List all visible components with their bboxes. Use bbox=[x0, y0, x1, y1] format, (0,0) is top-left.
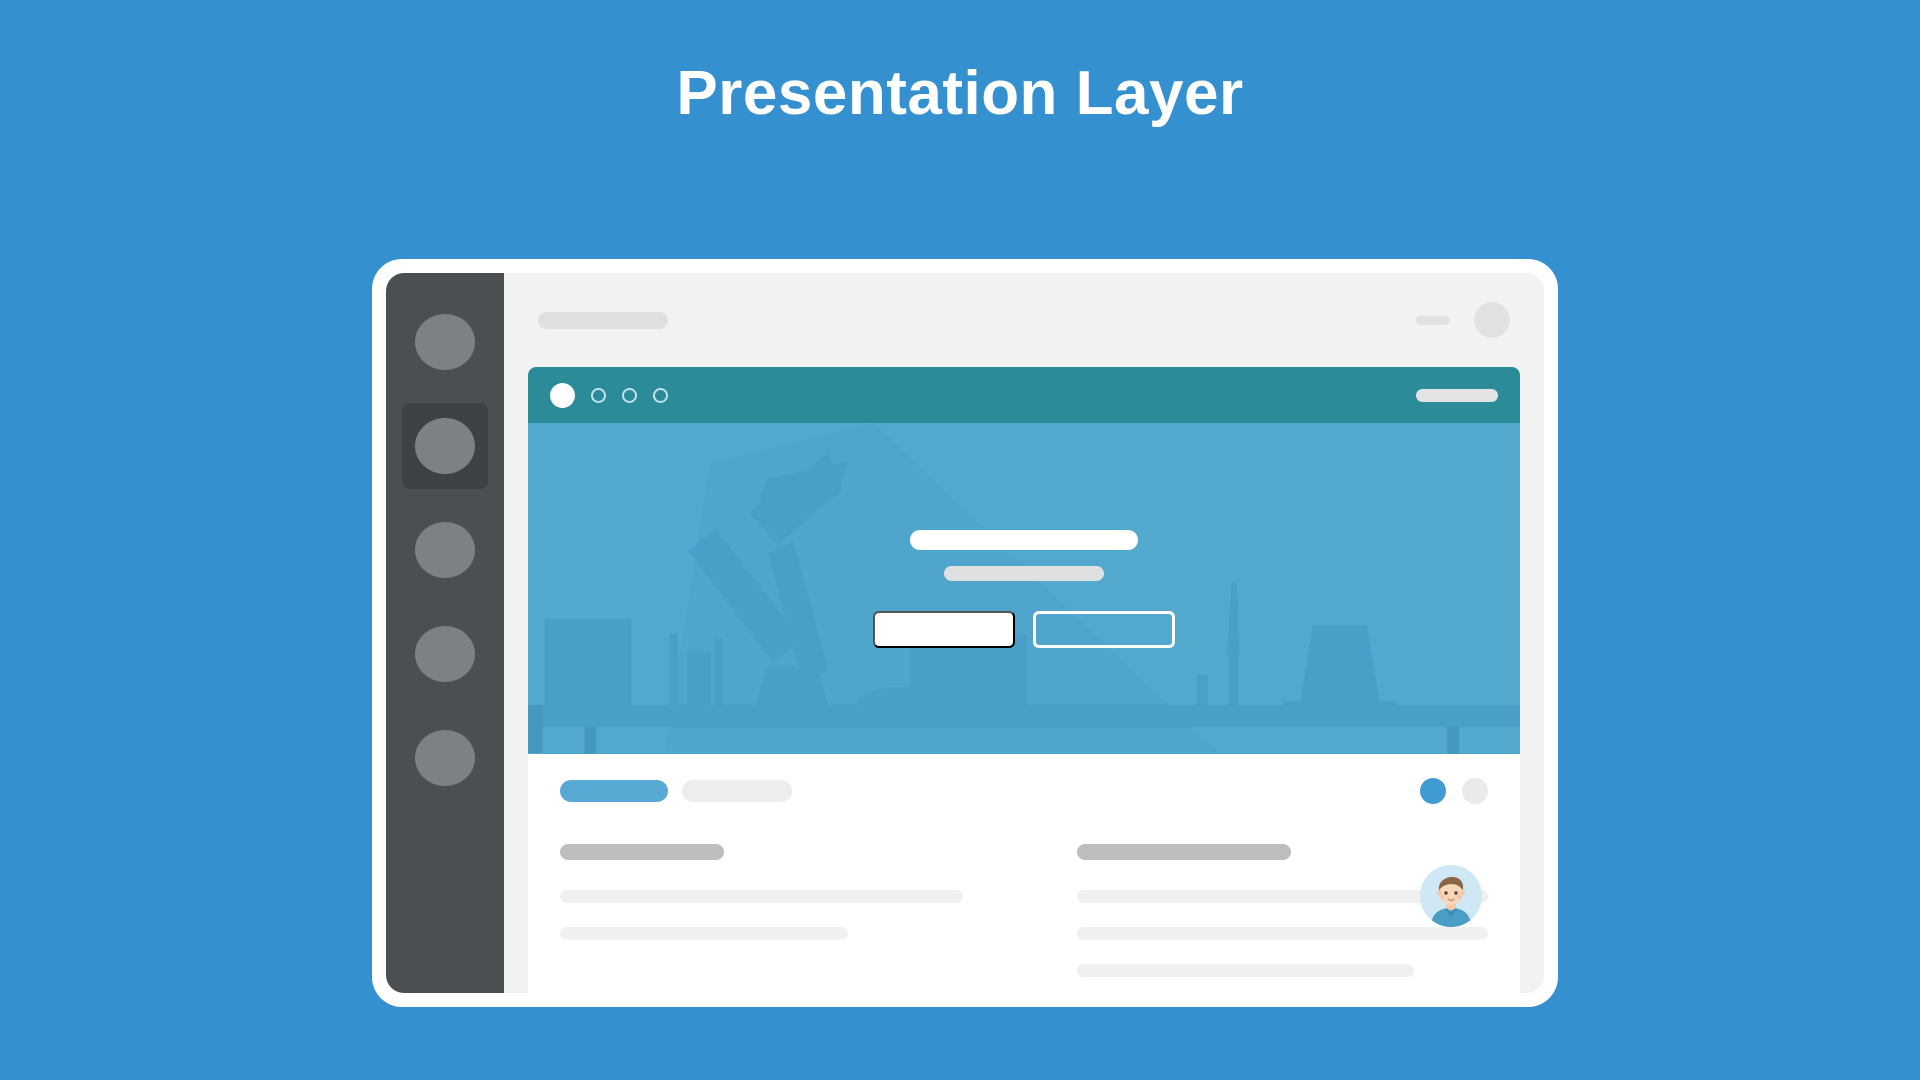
sidebar-item-5[interactable] bbox=[402, 715, 488, 801]
column-heading bbox=[1077, 844, 1291, 860]
app-header bbox=[504, 273, 1544, 367]
column-text-line bbox=[1077, 927, 1488, 940]
content-column-right bbox=[1077, 844, 1488, 993]
column-text-line bbox=[560, 890, 963, 903]
sidebar-item-1[interactable] bbox=[402, 299, 488, 385]
hero-subheadline bbox=[944, 566, 1104, 581]
filter-tag-active[interactable] bbox=[560, 780, 668, 802]
nav-circle-icon bbox=[415, 522, 475, 578]
hero-button-group bbox=[873, 611, 1175, 648]
pagination-dot-1[interactable] bbox=[1420, 778, 1446, 804]
column-text-line bbox=[560, 927, 848, 940]
hero-content bbox=[528, 423, 1520, 754]
content-area bbox=[528, 754, 1520, 993]
user-avatar[interactable] bbox=[1420, 865, 1482, 927]
column-text-line bbox=[1077, 964, 1414, 977]
content-toolbar bbox=[560, 778, 1488, 804]
header-avatar-icon[interactable] bbox=[1474, 302, 1510, 338]
window-dot-hollow-icon[interactable] bbox=[622, 388, 637, 403]
filter-tag-inactive[interactable] bbox=[682, 780, 792, 802]
column-heading bbox=[560, 844, 724, 860]
content-column-left bbox=[560, 844, 971, 993]
hero-primary-button[interactable] bbox=[873, 611, 1015, 648]
hero-banner bbox=[528, 423, 1520, 754]
sidebar-item-3[interactable] bbox=[402, 507, 488, 593]
nav-circle-icon bbox=[415, 626, 475, 682]
window-dot-hollow-icon[interactable] bbox=[591, 388, 606, 403]
pagination-dots bbox=[1420, 778, 1488, 804]
pagination-dot-2[interactable] bbox=[1462, 778, 1488, 804]
app-title-placeholder bbox=[538, 312, 668, 329]
window-dot-filled-icon[interactable] bbox=[550, 383, 575, 408]
device-screen bbox=[386, 273, 1544, 993]
avatar-person-icon bbox=[1420, 865, 1482, 927]
app-header-controls bbox=[1416, 302, 1510, 338]
minimize-icon[interactable] bbox=[1416, 316, 1450, 325]
page-title: Presentation Layer bbox=[0, 60, 1920, 128]
app-main-column bbox=[504, 273, 1544, 993]
tablet-device-frame bbox=[372, 259, 1558, 1007]
window-dot-hollow-icon[interactable] bbox=[653, 388, 668, 403]
hero-secondary-button[interactable] bbox=[1033, 611, 1175, 648]
app-sidebar bbox=[386, 273, 504, 993]
browser-chrome-bar bbox=[528, 367, 1520, 423]
browser-window bbox=[528, 367, 1520, 993]
nav-circle-icon bbox=[415, 730, 475, 786]
sidebar-item-2[interactable] bbox=[402, 403, 488, 489]
hero-headline bbox=[910, 530, 1138, 550]
nav-circle-icon bbox=[415, 418, 475, 474]
sidebar-item-4[interactable] bbox=[402, 611, 488, 697]
browser-window-controls bbox=[550, 383, 668, 408]
content-columns bbox=[560, 844, 1488, 993]
address-bar-placeholder[interactable] bbox=[1416, 389, 1498, 402]
nav-circle-icon bbox=[415, 314, 475, 370]
